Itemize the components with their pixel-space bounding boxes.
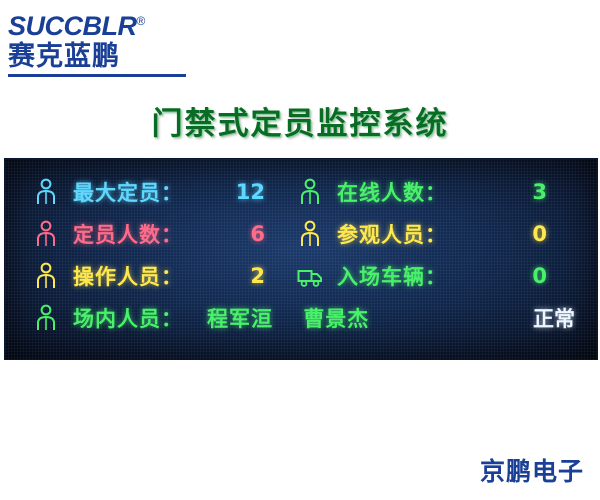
logo-divider [8,74,186,77]
onsite-personnel-names: 程军洹 曹景杰 [207,303,391,333]
led-row: 操作人员： 2 入场车辆： 0 [5,255,597,297]
logo-english-label: SUCCBLR [8,11,137,41]
operator-count-label: 操作人员： [73,261,183,291]
max-capacity-label: 最大定员： [73,177,183,207]
page-title: 门禁式定员监控系统 [0,98,600,143]
vehicle-count-label: 入场车辆： [337,261,447,291]
max-capacity-value: 12 [236,180,287,204]
person-green-icon [33,304,59,332]
footer-brand-label: 京鹏电子 [480,452,584,488]
online-count-label: 在线人数： [337,177,447,207]
operator-count-cell: 操作人员： 2 [5,255,287,297]
person-blue-icon [33,178,59,206]
led-row: 定员人数： 6 参观人员： 0 [5,213,597,255]
status-badge: 正常 [533,303,597,333]
max-capacity-cell: 最大定员： 12 [5,171,287,213]
staff-quota-label: 定员人数： [73,219,183,249]
onsite-personnel-row: 场内人员： 程军洹 曹景杰 正常 [5,297,597,339]
onsite-personnel-label: 场内人员： [73,303,183,333]
vehicle-count-cell: 入场车辆： 0 [287,255,569,297]
online-count-value: 3 [532,180,569,204]
logo-chinese-label: 赛克蓝鹏 [8,41,208,73]
registered-trademark-icon: ® [137,14,145,28]
company-logo: SUCCBLR® 赛克蓝鹏 [8,6,208,72]
person-pink-icon [33,220,59,248]
visitor-count-label: 参观人员： [337,219,447,249]
logo-english-text: SUCCBLR® [8,6,208,41]
visitor-count-value: 0 [532,222,569,246]
person-yellow-icon [297,220,323,248]
led-row: 最大定员： 12 在线人数： 3 [5,171,597,213]
personnel-name: 程军洹 [207,307,273,331]
visitor-count-cell: 参观人员： 0 [287,213,569,255]
online-count-cell: 在线人数： 3 [287,171,569,213]
staff-quota-cell: 定员人数： 6 [5,213,287,255]
truck-green-icon [297,262,323,290]
person-yellow-icon [33,262,59,290]
personnel-name: 曹景杰 [303,307,369,331]
vehicle-count-value: 0 [532,264,569,288]
led-display-panel: 最大定员： 12 在线人数： 3 定员人数： [4,158,598,360]
person-green-icon [297,178,323,206]
operator-count-value: 2 [250,264,287,288]
led-rows: 最大定员： 12 在线人数： 3 定员人数： [5,171,597,339]
staff-quota-value: 6 [250,222,287,246]
